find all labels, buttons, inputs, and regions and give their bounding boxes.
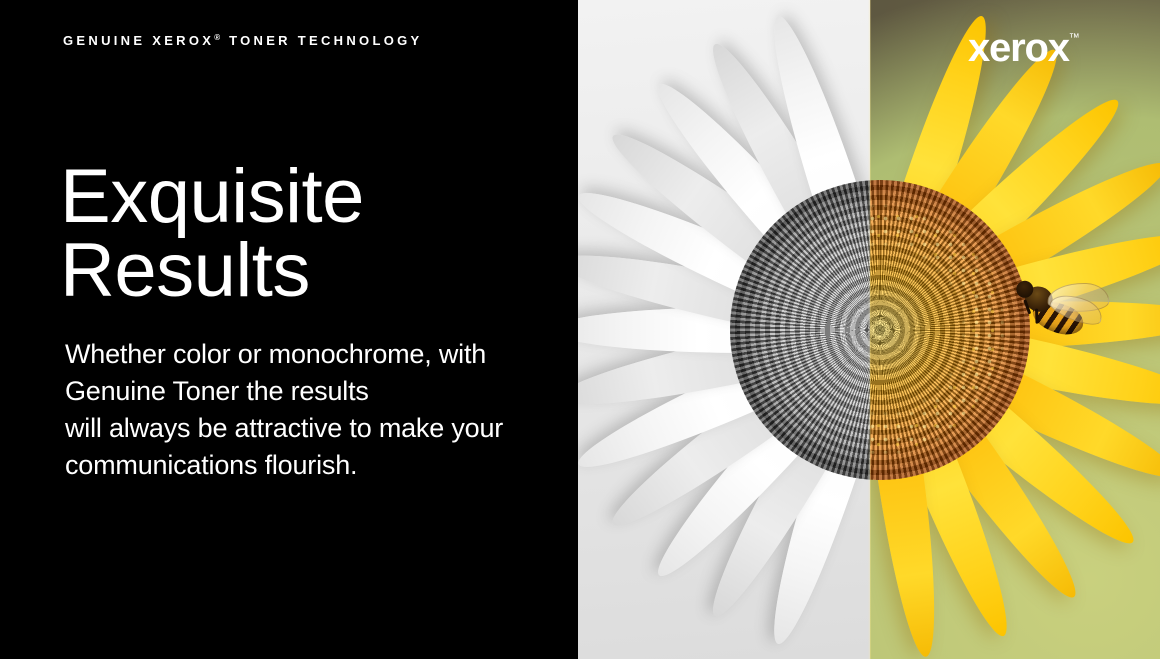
- advertisement-banner: xerox™ GENUINE XEROX® TONER TECHNOLOGY E…: [0, 0, 1160, 659]
- eyebrow-prefix: GENUINE XEROX: [63, 33, 214, 48]
- xerox-logo: xerox™: [968, 28, 1080, 68]
- body-line-4: communications flourish.: [65, 447, 503, 484]
- headline-line-1: Exquisite: [60, 160, 364, 234]
- body-line-3: will always be attractive to make your: [65, 410, 503, 447]
- eyebrow-suffix: TONER TECHNOLOGY: [222, 33, 422, 48]
- color-split-seam: [868, 0, 871, 659]
- eyebrow-heading: GENUINE XEROX® TONER TECHNOLOGY: [63, 33, 422, 48]
- body-line-1: Whether color or monochrome, with: [65, 336, 503, 373]
- bee-leg: [1036, 309, 1039, 324]
- left-content-panel: GENUINE XEROX® TONER TECHNOLOGY Exquisit…: [0, 0, 578, 659]
- trademark-symbol: ™: [1069, 32, 1080, 44]
- xerox-wordmark: xerox: [968, 26, 1069, 70]
- sunflower-photo: xerox™: [578, 0, 1160, 659]
- body-line-2: Genuine Toner the results: [65, 373, 503, 410]
- page-title: Exquisite Results: [60, 160, 364, 307]
- body-copy: Whether color or monochrome, with Genuin…: [65, 336, 503, 484]
- headline-line-2: Results: [60, 234, 364, 308]
- registered-mark-icon: ®: [214, 33, 222, 42]
